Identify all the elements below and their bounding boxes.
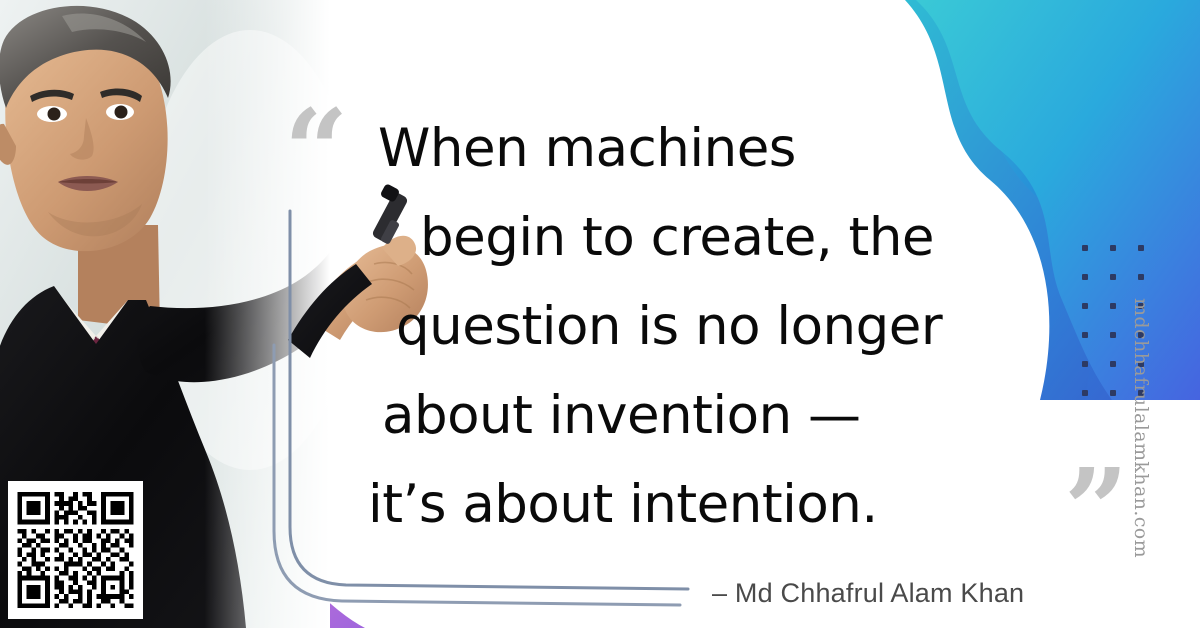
grid-dot [1082,390,1088,396]
quote-line: question is no longer [360,282,1060,371]
grid-dot [1082,332,1088,338]
quote-line: it’s about intention. [360,460,1060,549]
qr-code[interactable] [8,481,143,619]
grid-dot [1082,245,1088,251]
quote-line: When machines [360,104,1060,193]
website-url-vertical[interactable]: mdchhafrulalamkhan.com [1130,298,1152,558]
grid-dot [1110,274,1116,280]
author-attribution: – Md Chhafrul Alam Khan [712,578,1024,609]
grid-dot [1138,274,1144,280]
quote-graphic-canvas: “ ” When machines begin to create, the q… [0,0,1200,628]
grid-dot [1082,274,1088,280]
opening-quote-mark: “ [284,96,350,208]
grid-dot [1082,361,1088,367]
grid-dot [1110,332,1116,338]
quote-line: about invention — [360,371,1060,460]
quote-text-block: When machines begin to create, the quest… [360,104,1060,549]
grid-dot [1110,245,1116,251]
qr-code-matrix [8,481,143,619]
grid-dot [1110,390,1116,396]
grid-dot [1110,361,1116,367]
grid-dot [1110,303,1116,309]
grid-dot [1082,303,1088,309]
quote-line: begin to create, the [360,193,1060,282]
closing-quote-mark: ” [1064,455,1130,567]
grid-dot [1138,245,1144,251]
